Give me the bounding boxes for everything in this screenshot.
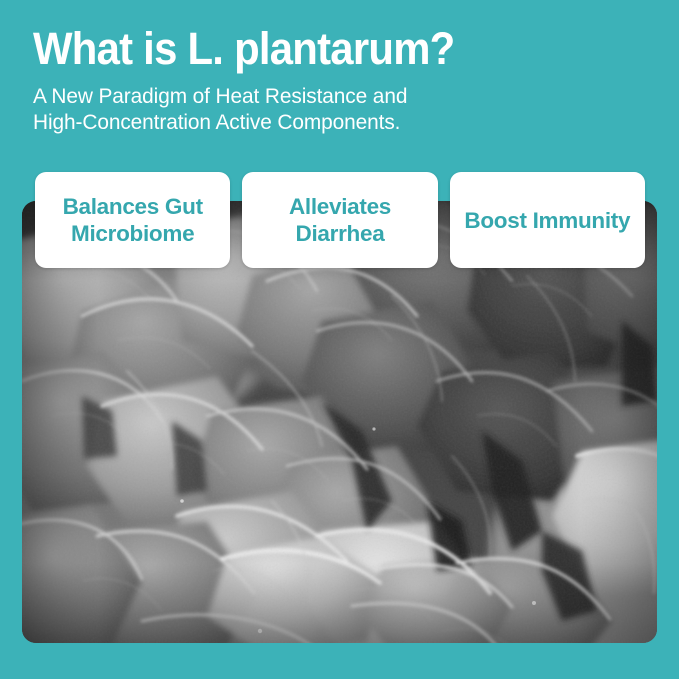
feature-card-label: Balances Gut Microbiome [35, 193, 230, 247]
feature-card-balances-gut-microbiome[interactable]: Balances Gut Microbiome [35, 172, 230, 268]
subtitle-line-2: High-Concentration Active Components. [33, 109, 625, 135]
header: What is L. plantarum? A New Paradigm of … [33, 24, 643, 135]
feature-card-alleviates-diarrhea[interactable]: Alleviates Diarrhea [242, 172, 437, 268]
feature-card-label: Boost Immunity [458, 207, 636, 234]
product-infographic-poster: What is L. plantarum? A New Paradigm of … [0, 0, 679, 679]
feature-card-boost-immunity[interactable]: Boost Immunity [450, 172, 645, 268]
subtitle: A New Paradigm of Heat Resistance and Hi… [33, 83, 625, 135]
subtitle-line-1: A New Paradigm of Heat Resistance and [33, 83, 625, 109]
feature-card-label: Alleviates Diarrhea [242, 193, 437, 247]
feature-cards-row: Balances Gut Microbiome Alleviates Diarr… [35, 172, 645, 268]
page-title: What is L. plantarum? [33, 24, 600, 74]
